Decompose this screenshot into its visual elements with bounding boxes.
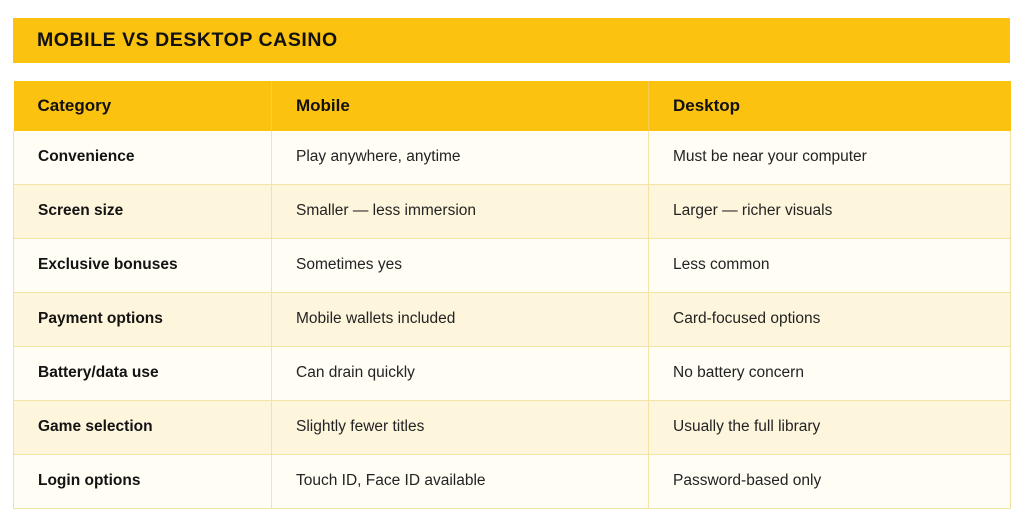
cell-desktop: Usually the full library: [649, 401, 1011, 455]
cell-desktop: Must be near your computer: [649, 131, 1011, 185]
table-row: Exclusive bonuses Sometimes yes Less com…: [14, 239, 1011, 293]
cell-category: Battery/data use: [14, 347, 272, 401]
cell-category: Convenience: [14, 131, 272, 185]
page-title-banner: MOBILE VS DESKTOP CASINO: [13, 18, 1010, 63]
comparison-page: MOBILE VS DESKTOP CASINO Category Mobile…: [0, 0, 1024, 529]
cell-desktop: Larger — richer visuals: [649, 185, 1011, 239]
cell-desktop: No battery concern: [649, 347, 1011, 401]
cell-mobile: Can drain quickly: [272, 347, 649, 401]
cell-mobile: Play anywhere, anytime: [272, 131, 649, 185]
cell-category: Screen size: [14, 185, 272, 239]
table-row: Payment options Mobile wallets included …: [14, 293, 1011, 347]
cell-desktop: Password-based only: [649, 455, 1011, 509]
mobile-vs-desktop-table: Category Mobile Desktop Convenience Play…: [13, 81, 1011, 509]
cell-category: Game selection: [14, 401, 272, 455]
cell-mobile: Mobile wallets included: [272, 293, 649, 347]
cell-mobile: Slightly fewer titles: [272, 401, 649, 455]
cell-category: Payment options: [14, 293, 272, 347]
cell-desktop: Card-focused options: [649, 293, 1011, 347]
table-row: Convenience Play anywhere, anytime Must …: [14, 131, 1011, 185]
cell-desktop: Less common: [649, 239, 1011, 293]
table-row: Battery/data use Can drain quickly No ba…: [14, 347, 1011, 401]
table-header-row: Category Mobile Desktop: [14, 81, 1011, 131]
page-title: MOBILE VS DESKTOP CASINO: [37, 31, 338, 51]
column-header-desktop: Desktop: [649, 81, 1011, 131]
table-row: Game selection Slightly fewer titles Usu…: [14, 401, 1011, 455]
cell-mobile: Smaller — less immersion: [272, 185, 649, 239]
cell-category: Exclusive bonuses: [14, 239, 272, 293]
table-header: Category Mobile Desktop: [14, 81, 1011, 131]
cell-category: Login options: [14, 455, 272, 509]
table-row: Login options Touch ID, Face ID availabl…: [14, 455, 1011, 509]
column-header-mobile: Mobile: [272, 81, 649, 131]
cell-mobile: Touch ID, Face ID available: [272, 455, 649, 509]
cell-mobile: Sometimes yes: [272, 239, 649, 293]
table-row: Screen size Smaller — less immersion Lar…: [14, 185, 1011, 239]
column-header-category: Category: [14, 81, 272, 131]
table-body: Convenience Play anywhere, anytime Must …: [14, 131, 1011, 509]
